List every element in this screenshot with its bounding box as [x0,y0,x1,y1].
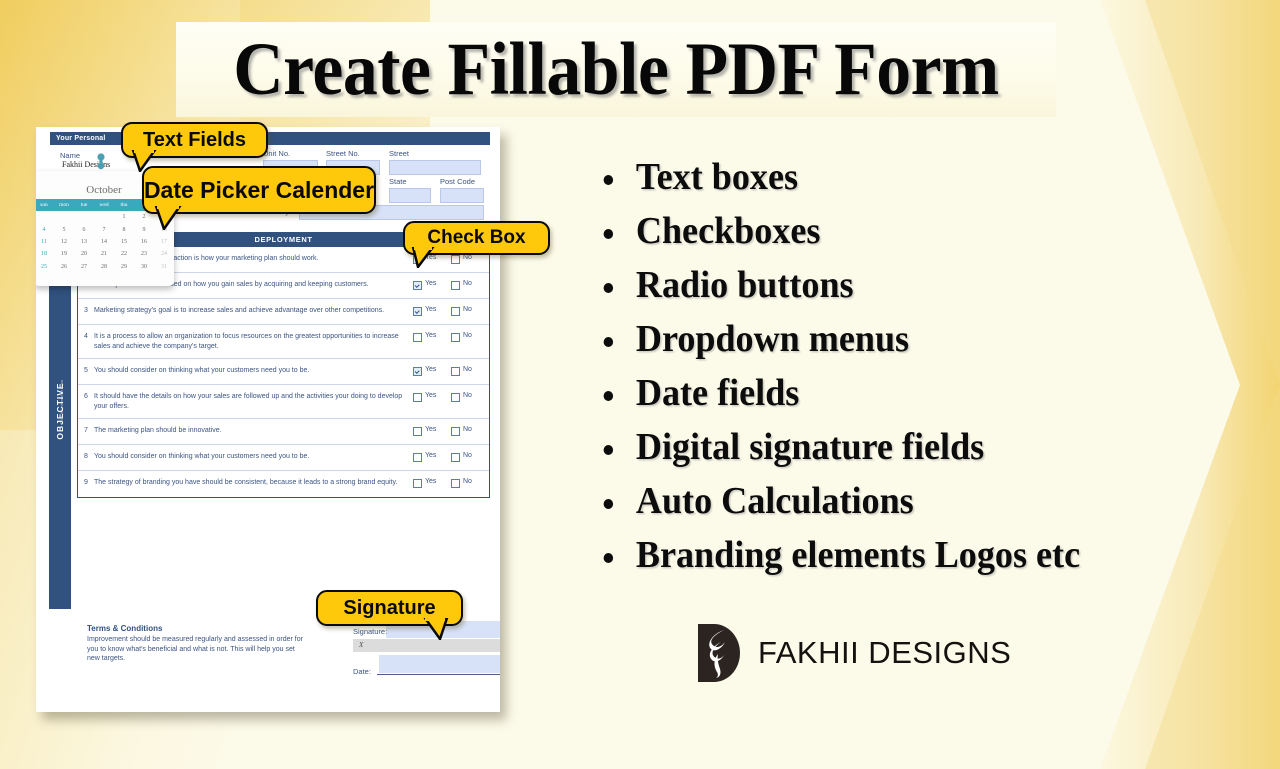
table-row: 3Marketing strategy's goal is to increas… [78,299,489,325]
calendar-day[interactable]: 1 [114,211,134,223]
calendar-day [94,211,114,223]
answer-no[interactable]: No [451,392,489,402]
checkbox-label: No [463,332,472,339]
feature-item: Checkboxes [596,204,1185,258]
signature-x-mark: X [359,641,363,649]
answer-no[interactable]: No [451,280,489,290]
answer-no[interactable]: No [451,426,489,436]
calendar-day[interactable]: 18 [36,248,54,260]
calendar-day [54,211,74,223]
answer-yes[interactable]: Yes [413,332,451,342]
calendar-weekday: wed [94,199,114,211]
checkbox-icon[interactable] [451,479,460,488]
question-text: It should have the details on how your s… [94,392,413,411]
checkbox-icon[interactable] [413,393,422,402]
answer-no[interactable]: No [451,254,489,264]
checkbox-label: No [463,254,472,261]
calendar-day[interactable]: 31 [154,261,174,273]
answer-yes[interactable]: Yes [413,426,451,436]
checkbox-label: Yes [425,332,436,339]
brand-name: FAKHII DESIGNS [758,635,1011,671]
checkbox-label: Yes [425,426,436,433]
checkbox-icon[interactable] [451,453,460,462]
feature-item: Text boxes [596,150,1185,204]
question-number: 7 [78,426,94,434]
checkbox-icon[interactable] [413,333,422,342]
calendar-day[interactable]: 13 [74,236,94,248]
checkbox-icon[interactable] [451,367,460,376]
calendar-day[interactable]: 19 [54,248,74,260]
calendar-day[interactable]: 5 [54,223,74,235]
question-number: 8 [78,452,94,460]
date-picker-pin-icon [94,153,108,171]
checkbox-icon[interactable] [413,453,422,462]
question-text: The strategy of branding you have should… [94,478,413,488]
calendar-day[interactable]: 30 [134,261,154,273]
post-code-label: Post Code [440,177,475,186]
callout-check-box-tail [411,247,435,268]
calendar-day[interactable]: 23 [134,248,154,260]
calendar-day[interactable]: 7 [94,223,114,235]
callout-signature-tail [423,618,449,640]
feature-item: Radio buttons [596,258,1185,312]
terms-title: Terms & Conditions [87,624,162,633]
calendar-day[interactable]: 15 [114,236,134,248]
signature-date-underline [377,674,500,675]
state-input[interactable] [389,188,431,203]
checkbox-label: Yes [425,478,436,485]
table-row: 5You should consider on thinking what yo… [78,359,489,385]
question-number: 3 [78,306,94,314]
checkbox-icon[interactable] [451,307,460,316]
post-code-input[interactable] [440,188,484,203]
signature-date-label: Date: [353,667,371,676]
calendar-day[interactable]: 20 [74,248,94,260]
question-number: 5 [78,366,94,374]
checkbox-icon[interactable] [451,333,460,342]
personal-section-header: Your Personal [50,132,490,145]
checkbox-label: Yes [425,280,436,287]
calendar-day[interactable]: 28 [94,261,114,273]
table-row: 7The marketing plan should be innovative… [78,419,489,445]
checkbox-label: No [463,280,472,287]
checkbox-label: Yes [425,306,436,313]
checkbox-icon[interactable] [451,393,460,402]
calendar-day[interactable]: 14 [94,236,114,248]
feature-item: Branding elements Logos etc [596,528,1185,582]
name-label: Name [60,151,80,160]
checkbox-label: No [463,306,472,313]
calendar-day[interactable]: 9 [134,223,154,235]
table-row: 6It should have the details on how your … [78,385,489,419]
checkbox-icon[interactable] [413,427,422,436]
calendar-day[interactable]: 4 [36,223,54,235]
question-number: 6 [78,392,94,400]
answer-no[interactable]: No [451,366,489,376]
feature-item: Date fields [596,366,1185,420]
brand-logo: FAKHII DESIGNS [694,620,1011,686]
calendar-day [74,211,94,223]
signature-date-input[interactable] [379,655,500,673]
terms-body: Improvement should be measured regularly… [87,635,305,664]
calendar-day[interactable]: 16 [134,236,154,248]
checkbox-label: Yes [425,366,436,373]
answer-yes[interactable]: Yes [413,478,451,488]
checkbox-label: Yes [425,452,436,459]
calendar-weekday: sun [36,199,54,211]
answer-yes[interactable]: Yes [413,452,451,462]
calendar-day[interactable]: 11 [36,236,54,248]
calendar-day[interactable]: 12 [54,236,74,248]
checkbox-icon[interactable] [413,281,422,290]
question-number: 9 [78,478,94,486]
calendar-day[interactable]: 22 [114,248,134,260]
table-row: 4It is a process to allow an organizatio… [78,325,489,359]
checkbox-label: No [463,392,472,399]
answer-no[interactable]: No [451,452,489,462]
table-row: 9The strategy of branding you have shoul… [78,471,489,497]
feature-item: Dropdown menus [596,312,1185,366]
question-text: You should consider on thinking what you… [94,452,413,462]
question-text: Marketing strategy's goal is to increase… [94,306,413,316]
calendar-day[interactable]: 26 [54,261,74,273]
checkbox-icon[interactable] [451,281,460,290]
page-title: Create Fillable PDF Form [207,22,1025,117]
street-no-label: Street No. [326,149,360,158]
calendar-day[interactable]: 8 [114,223,134,235]
checkbox-label: No [463,452,472,459]
calendar-day[interactable]: 6 [74,223,94,235]
signature-label: Signature: [353,627,387,636]
checkbox-icon[interactable] [451,255,460,264]
question-text: You should consider on thinking what you… [94,366,413,376]
answer-yes[interactable]: Yes [413,306,451,316]
checkbox-label: Yes [425,392,436,399]
question-text: It is a process to allow an organization… [94,332,413,351]
street-label: Street [389,149,409,158]
calendar-day[interactable]: 25 [36,261,54,273]
feature-item: Digital signature fields [596,420,1185,474]
answer-yes[interactable]: Yes [413,280,451,290]
callout-date-picker-tail [154,206,182,230]
calendar-day[interactable]: 29 [114,261,134,273]
signature-strip[interactable] [353,639,500,652]
checkbox-icon[interactable] [451,427,460,436]
table-row: 8You should consider on thinking what yo… [78,445,489,471]
calendar-weekday: tue [74,199,94,211]
calendar-weekday: thu [114,199,134,211]
calendar-day[interactable]: 21 [94,248,114,260]
checkbox-icon[interactable] [413,307,422,316]
calendar-day [36,211,54,223]
calendar-day[interactable]: 17 [154,236,174,248]
fakhii-d-monogram-icon [694,622,746,684]
feature-list: Text boxesCheckboxesRadio buttonsDropdow… [596,150,1216,582]
answer-no[interactable]: No [451,332,489,342]
calendar-day[interactable]: 24 [154,248,174,260]
checkbox-icon[interactable] [413,479,422,488]
answer-yes[interactable]: Yes [413,366,451,376]
objective-band-sub: Fill in the information below [60,347,64,457]
checkbox-label: No [463,426,472,433]
calendar-weekday: mon [54,199,74,211]
objective-band: OBJECTIVE Fill in the information below [49,232,71,609]
question-number: 4 [78,332,94,340]
calendar-day[interactable]: 27 [74,261,94,273]
question-text: The marketing plan should be innovative. [94,426,413,436]
state-label: State [389,177,407,186]
checkbox-icon[interactable] [413,367,422,376]
checkbox-label: No [463,478,472,485]
answer-no[interactable]: No [451,478,489,488]
checkbox-label: No [463,366,472,373]
answer-no[interactable]: No [451,306,489,316]
feature-item: Auto Calculations [596,474,1185,528]
street-input[interactable] [389,160,481,175]
answer-yes[interactable]: Yes [413,392,451,402]
